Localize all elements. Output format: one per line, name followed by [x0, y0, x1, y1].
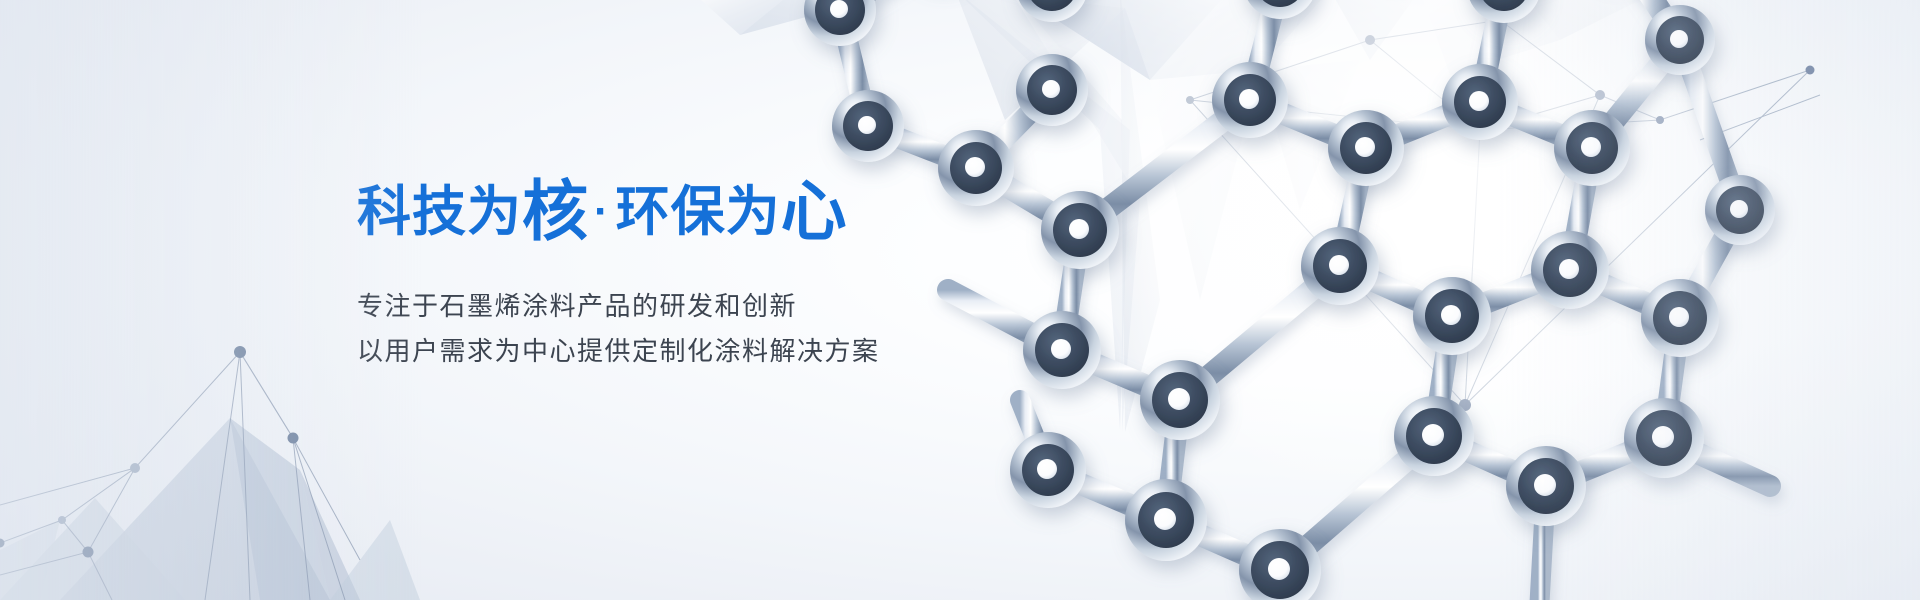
- headline-emphasis-heart: 心: [781, 174, 847, 248]
- subtitle-line-1: 专注于石墨烯涂料产品的研发和创新: [357, 284, 880, 329]
- page-title: 科技为核·环保为心: [357, 178, 880, 244]
- lattice-bonds: [840, 0, 1770, 600]
- hero-banner: 科技为核·环保为心 专注于石墨烯涂料产品的研发和创新 以用户需求为中心提供定制化…: [0, 0, 1920, 600]
- headline-emphasis-core: 核: [522, 174, 588, 248]
- hero-text-block: 科技为核·环保为心 专注于石墨烯涂料产品的研发和创新 以用户需求为中心提供定制化…: [357, 178, 880, 373]
- headline-part2: 环保为: [616, 182, 781, 242]
- subtitle-line-2: 以用户需求为中心提供定制化涂料解决方案: [357, 329, 880, 374]
- graphene-lattice-illustration: [780, 0, 1920, 600]
- hero-subtitle: 专注于石墨烯涂料产品的研发和创新 以用户需求为中心提供定制化涂料解决方案: [357, 284, 880, 373]
- headline-separator-dot: ·: [588, 187, 616, 236]
- polygon-cluster-bottom: [0, 418, 420, 600]
- headline-part1: 科技为: [357, 182, 522, 242]
